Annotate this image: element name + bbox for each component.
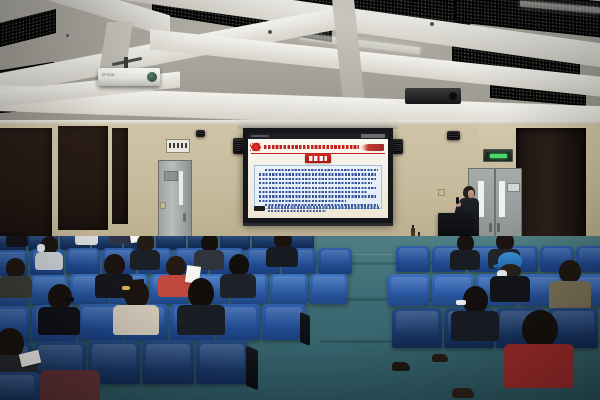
ceiling-projector: EPSON (98, 68, 160, 86)
light-fixture-louver (0, 9, 56, 47)
slide-text-line (259, 187, 376, 189)
seat (388, 274, 430, 306)
exit-sign (483, 149, 513, 162)
person-torso (177, 305, 225, 335)
door-vision-panel (179, 171, 183, 205)
seat (142, 340, 194, 384)
eyeglasses-icon (65, 297, 74, 302)
audience-member (452, 236, 478, 264)
slide-text-line (259, 195, 376, 197)
audience-member (76, 236, 98, 242)
person-torso (549, 281, 591, 309)
person-torso (490, 276, 530, 302)
seat-armrest (300, 312, 310, 346)
person-head (559, 260, 581, 283)
av-unit-lens-icon (449, 92, 457, 100)
slide-footer-line (268, 210, 326, 212)
audience-member (132, 236, 158, 264)
wall-speaker (447, 131, 460, 140)
seat (196, 340, 248, 384)
seat (392, 308, 442, 348)
seat (0, 372, 40, 400)
audience-member (552, 260, 586, 300)
window-curtain (58, 126, 108, 230)
seat (66, 248, 100, 274)
person-torso (266, 247, 298, 267)
door-vision-panel (499, 181, 505, 217)
slide-text-line (259, 182, 372, 184)
slide-text-line (265, 169, 378, 171)
audience-member (0, 258, 30, 292)
ceiling (0, 0, 600, 132)
slide-text-line (259, 178, 376, 180)
person-torso (220, 274, 256, 298)
person-head (522, 310, 558, 348)
person-torso (6, 236, 28, 247)
wall-speaker (196, 130, 205, 137)
seat-armrest (246, 346, 258, 390)
door-handle-icon[interactable] (497, 223, 500, 232)
audience-member (454, 286, 494, 334)
slide-ribbon-icon (361, 144, 384, 151)
slide-content-box (254, 165, 382, 209)
slide-body (248, 139, 388, 218)
hair-clip (122, 286, 130, 290)
person-torso (451, 311, 499, 341)
audience-member (222, 254, 254, 290)
projector-brand-label: EPSON (102, 73, 115, 77)
person-head (166, 256, 186, 277)
person-torso (75, 236, 98, 245)
audience-member-foreground (510, 310, 566, 376)
person-torso (0, 276, 32, 298)
audience-member (116, 280, 156, 326)
face-mask (37, 244, 45, 252)
slide (248, 133, 388, 218)
side-door[interactable] (158, 160, 192, 242)
person-torso (35, 252, 63, 270)
shoe (452, 388, 474, 398)
audience-member-with-cap (492, 252, 526, 292)
slide-text-line (259, 173, 376, 175)
screen-bottom-bar (243, 223, 393, 226)
microphone-icon (456, 197, 459, 204)
slide-footer-line (268, 206, 380, 208)
slide-header (251, 141, 385, 153)
projection-screen (243, 128, 393, 223)
window-curtain (112, 128, 128, 224)
door-notice-label (507, 183, 520, 192)
sprinkler-head (268, 30, 272, 34)
window-curtain (0, 128, 52, 236)
person-head (463, 286, 488, 314)
person-head (188, 278, 214, 308)
door-handle-icon[interactable] (183, 213, 186, 222)
wall-speaker (392, 139, 403, 154)
wall-outlet (160, 202, 166, 209)
audience-member-foreground (40, 366, 100, 400)
audience-member (6, 236, 28, 244)
person-torso (38, 307, 80, 335)
person-torso (130, 250, 160, 270)
slide-section-title (305, 154, 331, 163)
person-head (124, 280, 149, 308)
sprinkler-head (430, 22, 434, 26)
person-torso (504, 344, 574, 388)
slide-footer (254, 205, 382, 214)
door-plate (164, 171, 178, 181)
person-torso (113, 305, 159, 335)
shoe (392, 362, 410, 371)
sprinkler-head (66, 34, 69, 37)
slide-text-line (259, 200, 346, 202)
person-head (229, 254, 249, 276)
door-handle-icon[interactable] (489, 223, 492, 232)
seat (318, 248, 352, 274)
seat (396, 246, 430, 272)
rear-av-unit (405, 88, 461, 104)
slide-ornament-icon (251, 142, 261, 152)
seat (270, 274, 308, 304)
face-mask (456, 300, 466, 305)
slide-footer-tag (254, 206, 265, 211)
shoe (432, 354, 448, 362)
audience-member (268, 236, 296, 262)
toolbar-left-controls (251, 135, 269, 138)
audience-member (40, 284, 78, 326)
slide-header-title (264, 144, 359, 150)
person-head (104, 254, 125, 276)
slide-text-line (259, 191, 368, 193)
lecture-hall-photo: EPSON (0, 0, 600, 400)
notice-board (166, 139, 190, 153)
projector-lens-icon (147, 72, 157, 82)
toolbar-right-controls (361, 134, 385, 137)
person-head (6, 258, 25, 278)
audience-member (180, 278, 222, 326)
audience-member (196, 236, 222, 264)
audience-member (36, 236, 62, 266)
presenter-face (468, 190, 474, 198)
person-torso (40, 370, 100, 400)
audience-member (110, 236, 132, 242)
seat (310, 274, 348, 304)
wall-outlet (438, 189, 445, 196)
exit-sign-text (490, 154, 507, 158)
person-torso (450, 250, 480, 270)
audience-seating-area (0, 236, 600, 400)
